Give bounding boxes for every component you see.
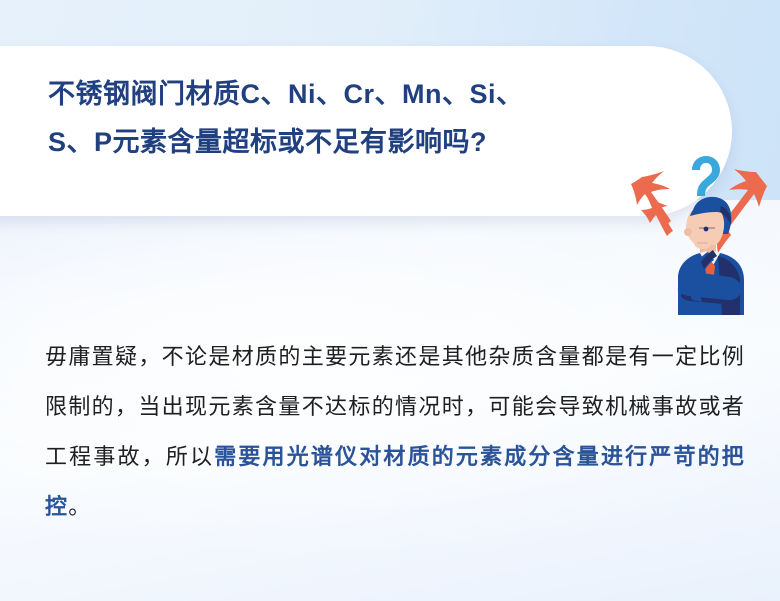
poster-page: 不锈钢阀门材质C、Ni、Cr、Mn、Si、 S、P元素含量超标或不足有影响吗?: [0, 0, 780, 601]
thinking-man-illustration: [618, 150, 780, 315]
body-paragraph: 毋庸置疑，不论是材质的主要元素还是其他杂质含量都是有一定比例限制的，当出现元素含…: [45, 332, 745, 532]
eye: [704, 227, 709, 232]
headline-line-2: S、P元素含量超标或不足有影响吗?: [48, 118, 668, 166]
headline-line-1: 不锈钢阀门材质C、Ni、Cr、Mn、Si、: [48, 70, 668, 118]
headline-card-content: 不锈钢阀门材质C、Ni、Cr、Mn、Si、 S、P元素含量超标或不足有影响吗?: [48, 70, 668, 166]
arrow-up-left-icon: [631, 171, 673, 236]
body-segment-period: 。: [68, 494, 91, 519]
